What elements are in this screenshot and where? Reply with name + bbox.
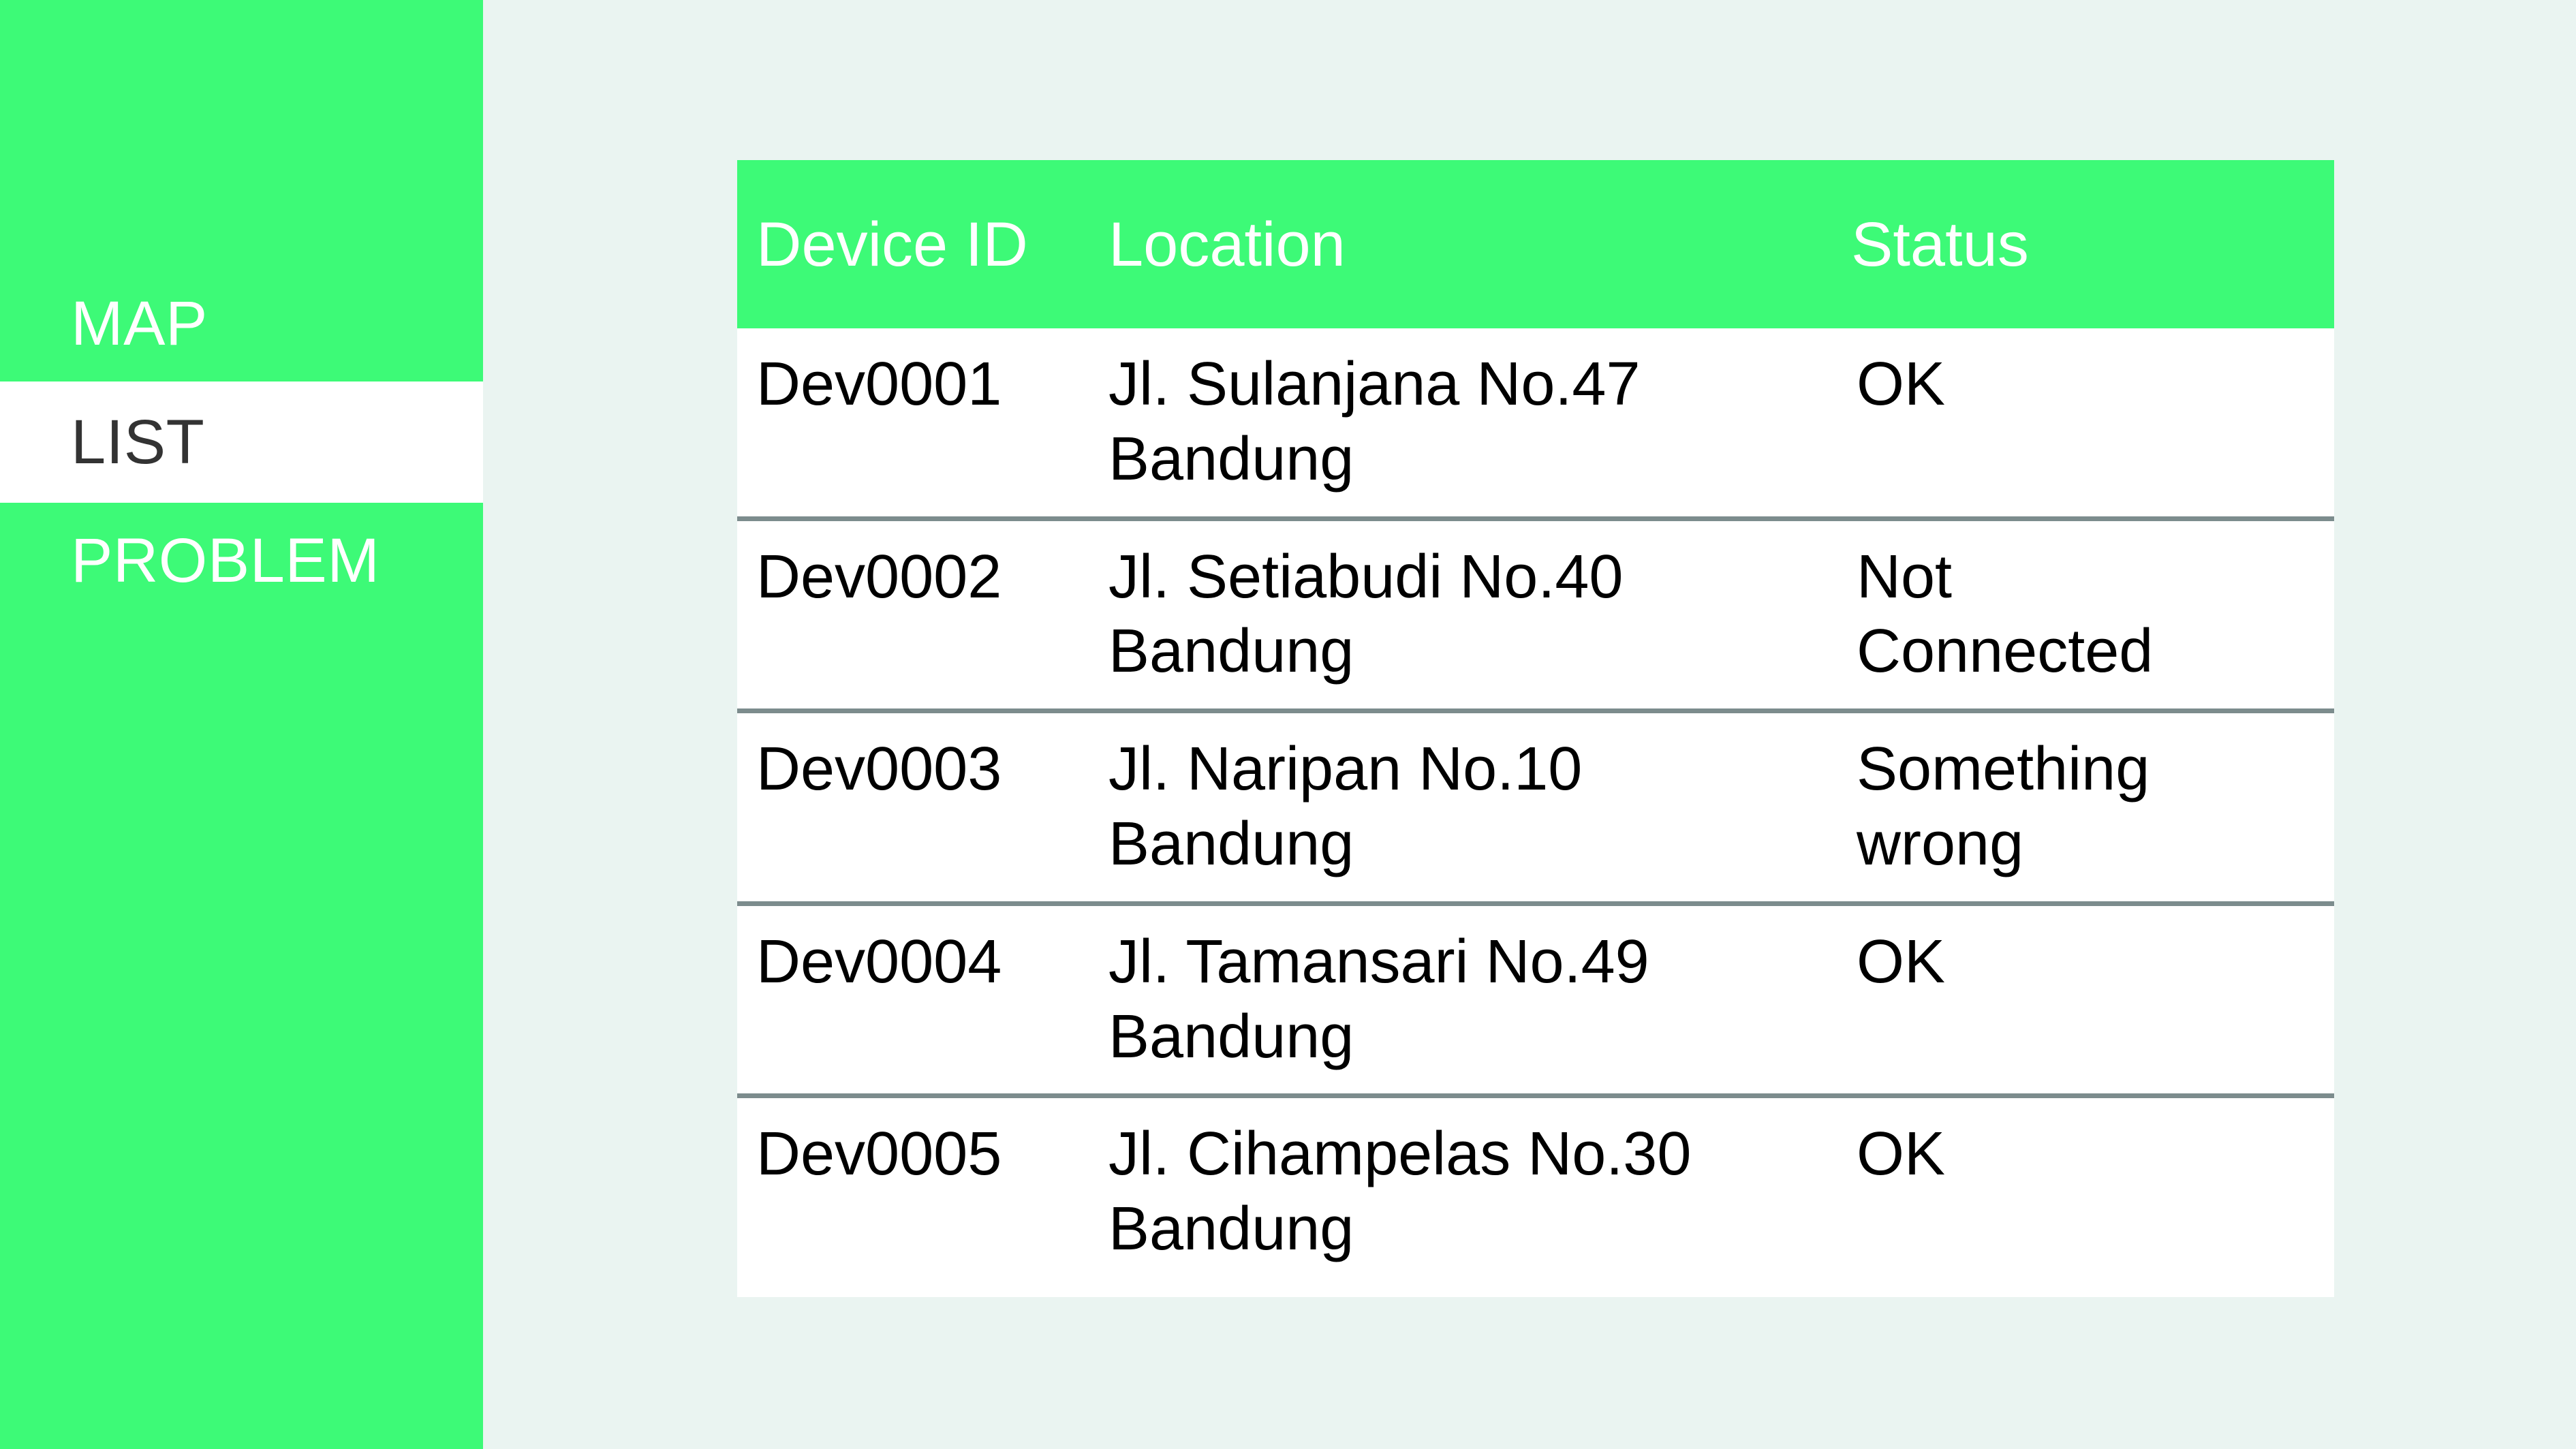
- cell-status: OK: [1851, 1117, 2334, 1192]
- status-badge: Something wrong: [1857, 732, 2184, 882]
- location-line-1: Jl. Tamansari No.49: [1108, 925, 1851, 1000]
- cell-status: Not Connected: [1851, 540, 2334, 690]
- device-list-table: Device ID Location Status Dev0001 Jl. Su…: [737, 160, 2334, 1297]
- column-header-status[interactable]: Status: [1851, 213, 2334, 276]
- table-row[interactable]: Dev0005 Jl. Cihampelas No.30 Bandung OK: [737, 1098, 2334, 1297]
- location-line-1: Jl. Sulanjana No.47: [1108, 347, 1851, 422]
- status-badge: OK: [1857, 1117, 2184, 1192]
- cell-status: OK: [1851, 925, 2334, 1000]
- location-line-1: Jl. Setiabudi No.40: [1108, 540, 1851, 615]
- cell-location: Jl. Tamansari No.49 Bandung: [1108, 925, 1851, 1075]
- sidebar-item-label-list: LIST: [71, 411, 204, 473]
- location-line-2: Bandung: [1108, 1192, 1851, 1267]
- location-line-2: Bandung: [1108, 1000, 1851, 1075]
- status-badge: OK: [1857, 347, 2184, 422]
- cell-location: Jl. Naripan No.10 Bandung: [1108, 732, 1851, 882]
- location-line-2: Bandung: [1108, 422, 1851, 497]
- sidebar-item-list[interactable]: LIST: [0, 381, 483, 503]
- sidebar-navigation: MAP LIST PROBLEM: [0, 0, 483, 1449]
- cell-location: Jl. Setiabudi No.40 Bandung: [1108, 540, 1851, 690]
- status-badge: Not Connected: [1857, 540, 2184, 690]
- cell-device-id: Dev0001: [737, 347, 1108, 422]
- sidebar-item-label-map: MAP: [71, 292, 208, 355]
- sidebar-item-label-problem: PROBLEM: [71, 529, 379, 592]
- table-row[interactable]: Dev0003 Jl. Naripan No.10 Bandung Someth…: [737, 713, 2334, 906]
- cell-location: Jl. Sulanjana No.47 Bandung: [1108, 347, 1851, 497]
- cell-status: OK: [1851, 347, 2334, 422]
- cell-device-id: Dev0004: [737, 925, 1108, 1000]
- location-line-1: Jl. Cihampelas No.30: [1108, 1117, 1851, 1192]
- location-line-2: Bandung: [1108, 807, 1851, 882]
- table-row[interactable]: Dev0004 Jl. Tamansari No.49 Bandung OK: [737, 906, 2334, 1099]
- column-header-location[interactable]: Location: [1108, 213, 1851, 276]
- cell-device-id: Dev0005: [737, 1117, 1108, 1192]
- sidebar-item-map[interactable]: MAP: [0, 266, 483, 381]
- sidebar-item-problem[interactable]: PROBLEM: [0, 503, 483, 619]
- table-row[interactable]: Dev0002 Jl. Setiabudi No.40 Bandung Not …: [737, 521, 2334, 714]
- cell-location: Jl. Cihampelas No.30 Bandung: [1108, 1117, 1851, 1267]
- cell-status: Something wrong: [1851, 732, 2334, 882]
- location-line-2: Bandung: [1108, 614, 1851, 689]
- location-line-1: Jl. Naripan No.10: [1108, 732, 1851, 807]
- cell-device-id: Dev0003: [737, 732, 1108, 807]
- status-badge: OK: [1857, 925, 2184, 1000]
- cell-device-id: Dev0002: [737, 540, 1108, 615]
- table-header-row: Device ID Location Status: [737, 160, 2334, 328]
- column-header-device-id[interactable]: Device ID: [737, 213, 1108, 276]
- table-row[interactable]: Dev0001 Jl. Sulanjana No.47 Bandung OK: [737, 328, 2334, 521]
